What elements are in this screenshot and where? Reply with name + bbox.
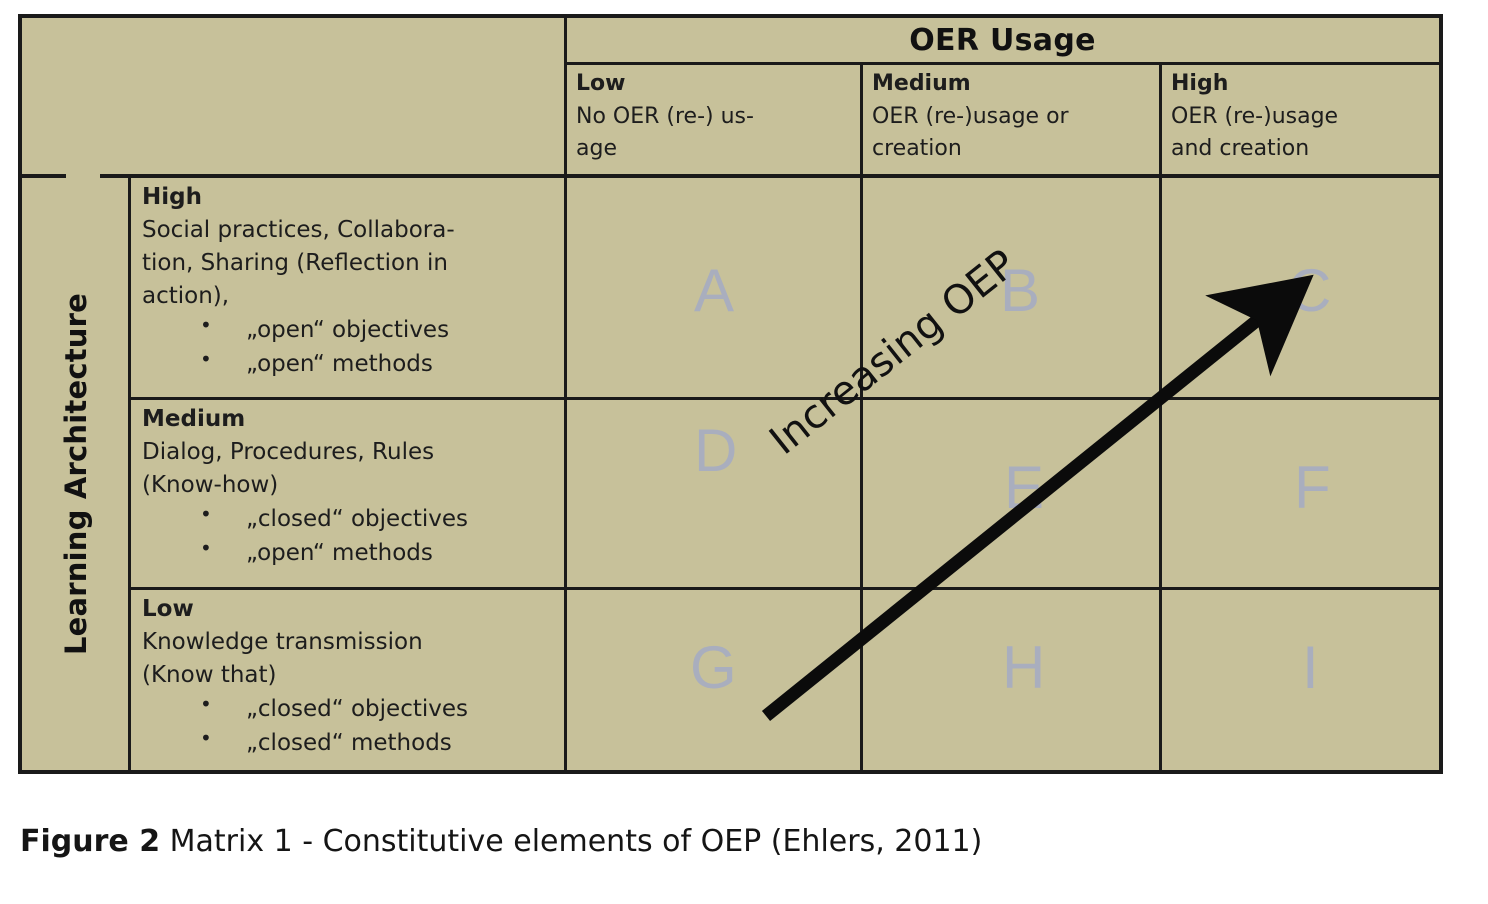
row-header-medium-level: Medium [142,403,560,436]
matrix-cell-I: I [1302,638,1319,698]
row-axis-title-text: Learning Architecture [59,292,93,654]
column-header-high-level: High [1171,68,1431,101]
matrix-cell-D: D [694,421,737,481]
list-item: „closed“ methods [142,726,560,760]
column-header-medium-level: Medium [872,68,1153,101]
list-item: „open“ objectives [142,313,560,347]
list-item: „closed“ objectives [142,502,560,536]
figure-caption-text: Matrix 1 - Constitutive elements of OEP … [160,824,982,859]
list-item: „open“ methods [142,347,560,381]
column-header-low-level: Low [576,68,854,101]
row-header-high: High Social practices, Collabora- tion, … [130,177,566,399]
row-header-low-level: Low [142,593,560,626]
matrix-cell-G: G [690,638,737,698]
column-header-medium-desc-line1: OER (re-)usage or [872,101,1153,134]
column-header-high-desc-line2: and creation [1171,133,1431,166]
row-header-high-bullets: „open“ objectives „open“ methods [142,313,560,381]
column-header-medium: Medium OER (re-)usage or creation [862,64,1161,177]
figure-caption: Figure 2 Matrix 1 - Constitutive element… [20,824,1420,859]
column-axis-title: OER Usage [566,18,1439,62]
matrix-cell-H: H [1002,638,1045,698]
row-header-low-desc-line2: (Know that) [142,659,560,692]
increasing-oep-label: Increasing OEP [761,241,1025,464]
matrix-cell-C: C [1288,261,1331,321]
figure-page: OER Usage Low No OER (re-) us- age Mediu… [0,0,1488,904]
row-header-medium: Medium Dialog, Procedures, Rules (Know-h… [130,399,566,589]
column-header-low-desc-line1: No OER (re-) us- [576,101,854,134]
figure-number: Figure 2 [20,824,160,859]
row-header-high-level: High [142,181,560,214]
row-header-medium-desc-line1: Dialog, Procedures, Rules [142,436,560,469]
row-header-low: Low Knowledge transmission (Know that) „… [130,589,566,770]
column-header-medium-desc-line2: creation [872,133,1153,166]
row-header-high-desc-line2: tion, Sharing (Reflection in [142,247,560,280]
list-item: „closed“ objectives [142,692,560,726]
row-header-low-desc-line1: Knowledge transmission [142,626,560,659]
row-header-medium-desc-line2: (Know-how) [142,469,560,502]
column-header-low-desc-line2: age [576,133,854,166]
row-header-high-desc-line1: Social practices, Collabora- [142,214,560,247]
oep-matrix-table: OER Usage Low No OER (re-) us- age Mediu… [18,14,1443,774]
column-header-low: Low No OER (re-) us- age [566,64,862,177]
column-header-high: High OER (re-)usage and creation [1161,64,1439,177]
row-axis-title: Learning Architecture [22,177,130,770]
list-item: „open“ methods [142,536,560,570]
matrix-cell-F: F [1294,458,1331,518]
matrix-cell-A: A [694,261,734,321]
row-header-medium-bullets: „closed“ objectives „open“ methods [142,502,560,570]
row-header-high-desc-line3: action), [142,280,560,313]
matrix-cell-E: E [1004,458,1044,518]
column-header-high-desc-line1: OER (re-)usage [1171,101,1431,134]
row-header-low-bullets: „closed“ objectives „closed“ methods [142,692,560,760]
